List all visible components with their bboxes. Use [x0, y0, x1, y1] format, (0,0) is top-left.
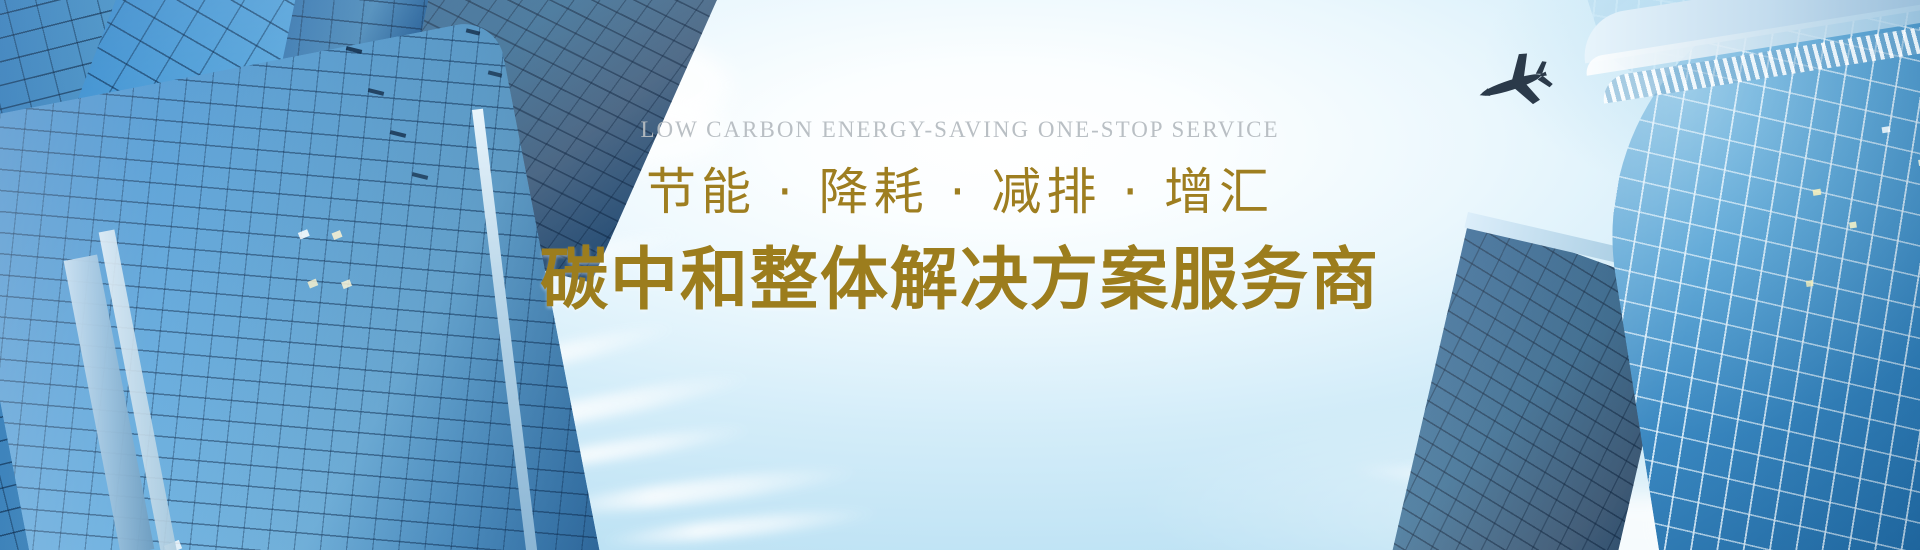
- cirrus-streak: [600, 503, 880, 550]
- airplane-icon: [1460, 40, 1562, 129]
- hero-banner: LOW CARBON ENERGY-SAVING ONE-STOP SERVIC…: [0, 0, 1920, 550]
